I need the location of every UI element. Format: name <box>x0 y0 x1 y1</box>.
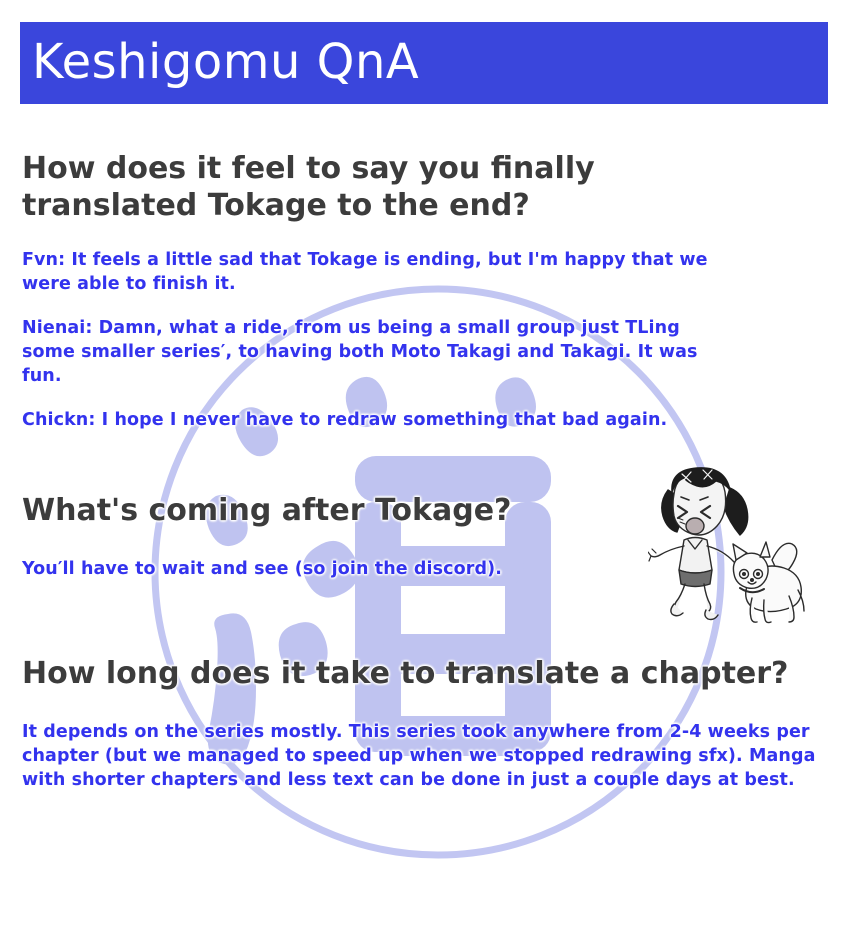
qa-block-3: How long does it take to translate a cha… <box>22 655 822 792</box>
title-banner: Keshigomu QnA <box>20 22 828 104</box>
page-root: Keshigomu QnA How does it feel to say yo… <box>0 0 848 937</box>
answer-text-1-2: Nienai: Damn, what a ride, from us being… <box>22 316 722 388</box>
answer-text-2-1: You′ll have to wait and see (so join the… <box>22 557 642 581</box>
page-title: Keshigomu QnA <box>32 28 419 96</box>
question-heading-1: How does it feel to say you finally tran… <box>22 150 722 224</box>
answer-text-3-1: It depends on the series mostly. This se… <box>22 720 822 792</box>
chibi-girl-with-dog-illustration <box>648 462 808 627</box>
answers-group-2: You′ll have to wait and see (so join the… <box>22 557 642 581</box>
question-heading-3: How long does it take to translate a cha… <box>22 655 822 692</box>
answer-text-1-3: Chickn: I hope I never have to redraw so… <box>22 408 722 432</box>
qa-block-1: How does it feel to say you finally tran… <box>22 150 722 432</box>
answer-text-1-1: Fvn: It feels a little sad that Tokage i… <box>22 248 722 296</box>
question-heading-2: What's coming after Tokage? <box>22 492 642 529</box>
answers-group-3: It depends on the series mostly. This se… <box>22 720 822 792</box>
qa-block-2: What's coming after Tokage? You′ll have … <box>22 492 642 581</box>
answers-group-1: Fvn: It feels a little sad that Tokage i… <box>22 248 722 432</box>
